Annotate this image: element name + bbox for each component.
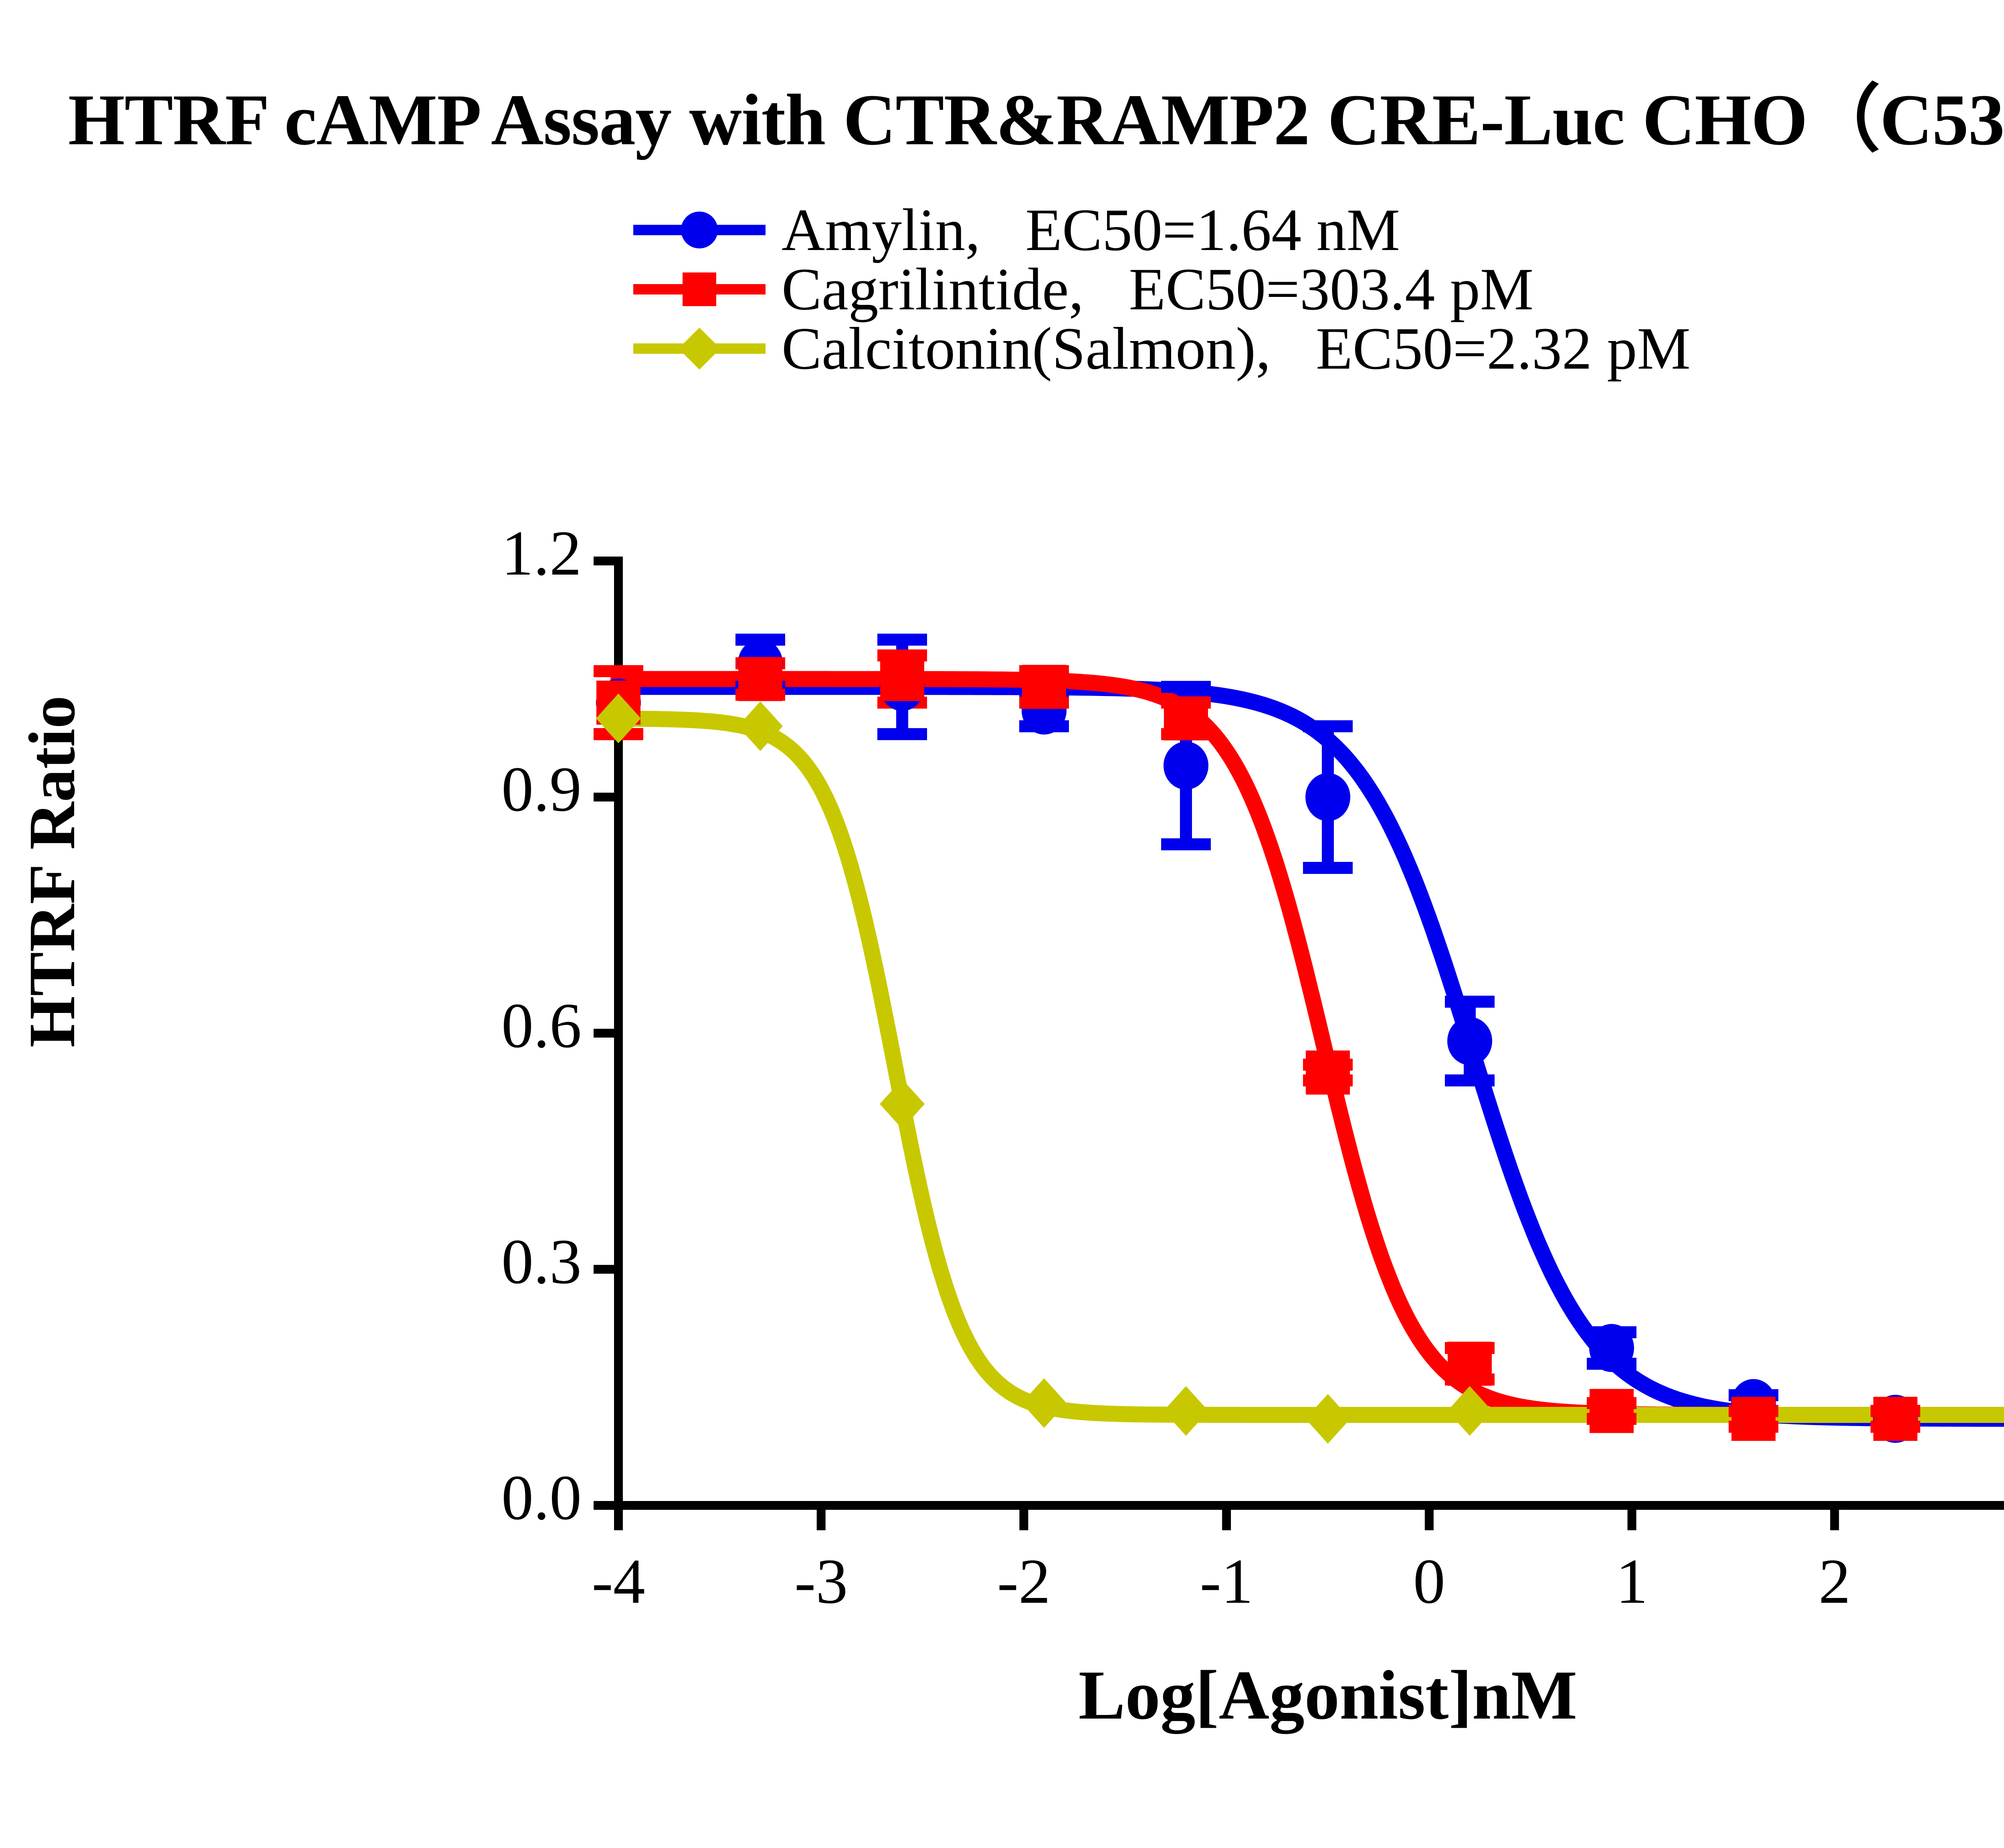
data-point <box>1589 1324 1634 1372</box>
data-point <box>880 657 924 701</box>
data-point <box>1022 1378 1067 1428</box>
data-point <box>1590 1389 1634 1433</box>
data-point <box>1164 696 1208 740</box>
data-point <box>1022 665 1066 709</box>
data-point <box>1164 1386 1208 1436</box>
x-tick-label: -4 <box>558 1544 679 1618</box>
x-tick-label: 3 <box>1977 1544 2004 1618</box>
data-point <box>1873 1397 1917 1441</box>
data-point <box>1447 1017 1492 1065</box>
x-tick-label: 0 <box>1369 1544 1489 1618</box>
data-point <box>1305 773 1350 821</box>
y-tick-label: 0.0 <box>413 1461 582 1535</box>
chart-canvas: HTRF cAMP Assay with CTR&RAMP2 CRE-Luc C… <box>0 0 2004 1848</box>
data-point <box>1306 1051 1350 1095</box>
x-tick-label: 1 <box>1572 1544 1692 1618</box>
x-tick-label: -3 <box>761 1544 881 1618</box>
x-tick-label: -1 <box>1166 1544 1287 1618</box>
y-tick-label: 0.3 <box>413 1225 582 1299</box>
data-point <box>1448 1342 1492 1386</box>
plot-area: HTRF Ratio Log[Agonist]nM 0.00.30.60.91.… <box>0 0 2004 1848</box>
y-axis-label: HTRF Ratio <box>14 591 90 1152</box>
data-point <box>738 657 782 701</box>
data-point <box>880 1079 925 1129</box>
y-tick-label: 1.2 <box>413 516 582 590</box>
data-point <box>1164 742 1208 790</box>
x-tick-label: -2 <box>964 1544 1084 1618</box>
y-tick-label: 0.9 <box>413 752 582 826</box>
x-axis-label: Log[Agonist]nM <box>618 1655 2004 1735</box>
data-point <box>1305 1394 1350 1444</box>
y-tick-label: 0.6 <box>413 989 582 1063</box>
x-tick-label: 2 <box>1774 1544 1895 1618</box>
data-point <box>1731 1397 1776 1441</box>
markers-calcitonin-salmon- <box>596 694 1492 1444</box>
